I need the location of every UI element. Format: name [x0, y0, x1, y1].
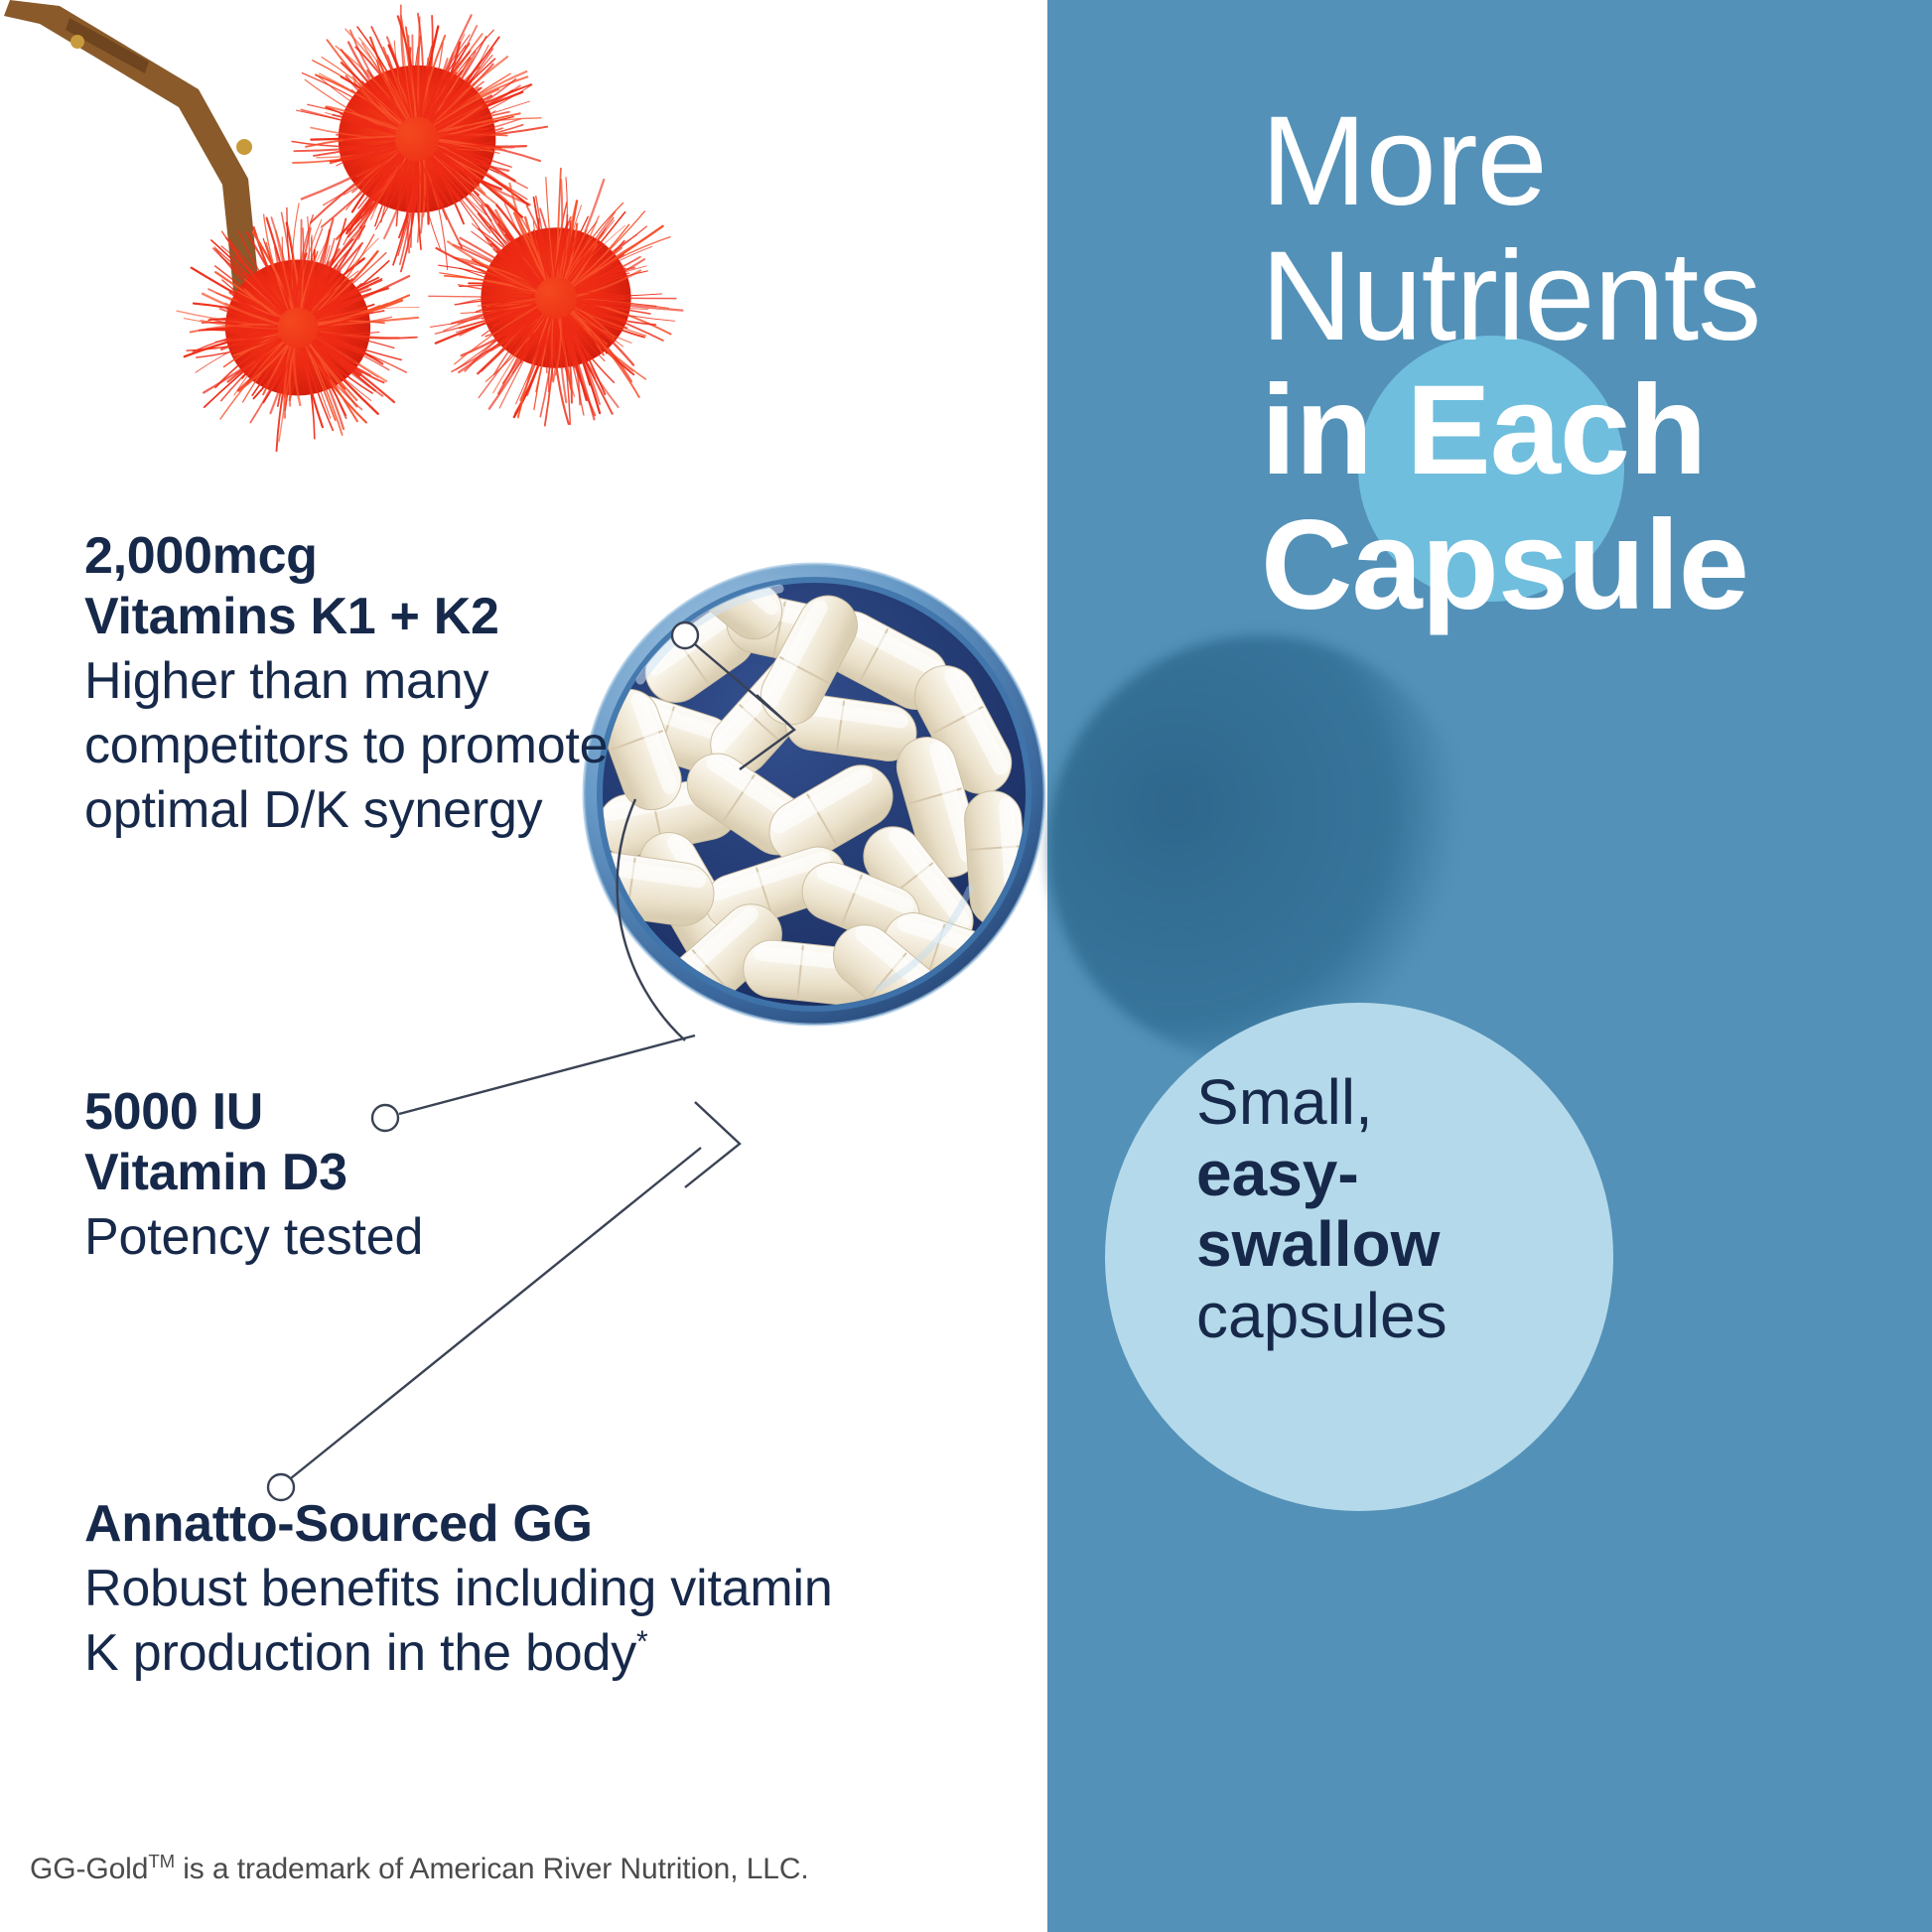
branch-shape [4, 0, 260, 300]
trademark-footer: GG-GoldTM is a trademark of American Riv… [30, 1851, 809, 1886]
annatto-pods-image [0, 0, 715, 467]
feature-vitamin-k: 2,000mcg Vitamins K1 + K2 Higher than ma… [84, 526, 700, 843]
footer-tm-symbol: TM [148, 1851, 175, 1871]
infographic-canvas: More Nutrients in Each Capsule Small, ea… [0, 0, 1932, 1932]
swallow-line-3: swallow [1196, 1209, 1534, 1281]
bowl-shadow [1047, 635, 1474, 1062]
feature-d3-body: Potency tested [84, 1205, 541, 1270]
feature-k-head-line2: Vitamins K1 + K2 [84, 587, 700, 647]
feature-gg-asterisk: * [636, 1626, 648, 1659]
swallow-line-4: capsules [1196, 1281, 1534, 1352]
feature-gg-head-line1: Annatto-Sourced GG [84, 1494, 859, 1555]
feature-d3-head-line2: Vitamin D3 [84, 1143, 541, 1203]
feature-d3-head-line1: 5000 IU [84, 1082, 541, 1143]
headline-line-2: Nutrients [1261, 229, 1932, 364]
headline-line-1: More [1261, 94, 1932, 229]
feature-gg-body: Robust benefits including vitamin K prod… [84, 1557, 859, 1686]
feature-vitamin-d3: 5000 IU Vitamin D3 Potency tested [84, 1082, 541, 1270]
easy-swallow-callout: Small, easy- swallow capsules [1196, 1067, 1534, 1352]
feature-k-body: Higher than many competitors to promote … [84, 649, 700, 843]
feature-gg-body-text: Robust benefits including vitamin K prod… [84, 1560, 833, 1682]
feature-annatto-gg: Annatto-Sourced GG Robust benefits inclu… [84, 1494, 859, 1686]
footer-suffix: is a trademark of American River Nutriti… [175, 1853, 809, 1885]
footer-prefix: GG-Gold [30, 1853, 148, 1885]
swallow-line-2: easy- [1196, 1139, 1534, 1210]
headline-line-3: in Each [1261, 363, 1932, 498]
headline-line-4: Capsule [1261, 498, 1932, 633]
swallow-line-1: Small, [1196, 1067, 1534, 1139]
headline: More Nutrients in Each Capsule [1261, 94, 1932, 633]
feature-k-head-line1: 2,000mcg [84, 526, 700, 587]
